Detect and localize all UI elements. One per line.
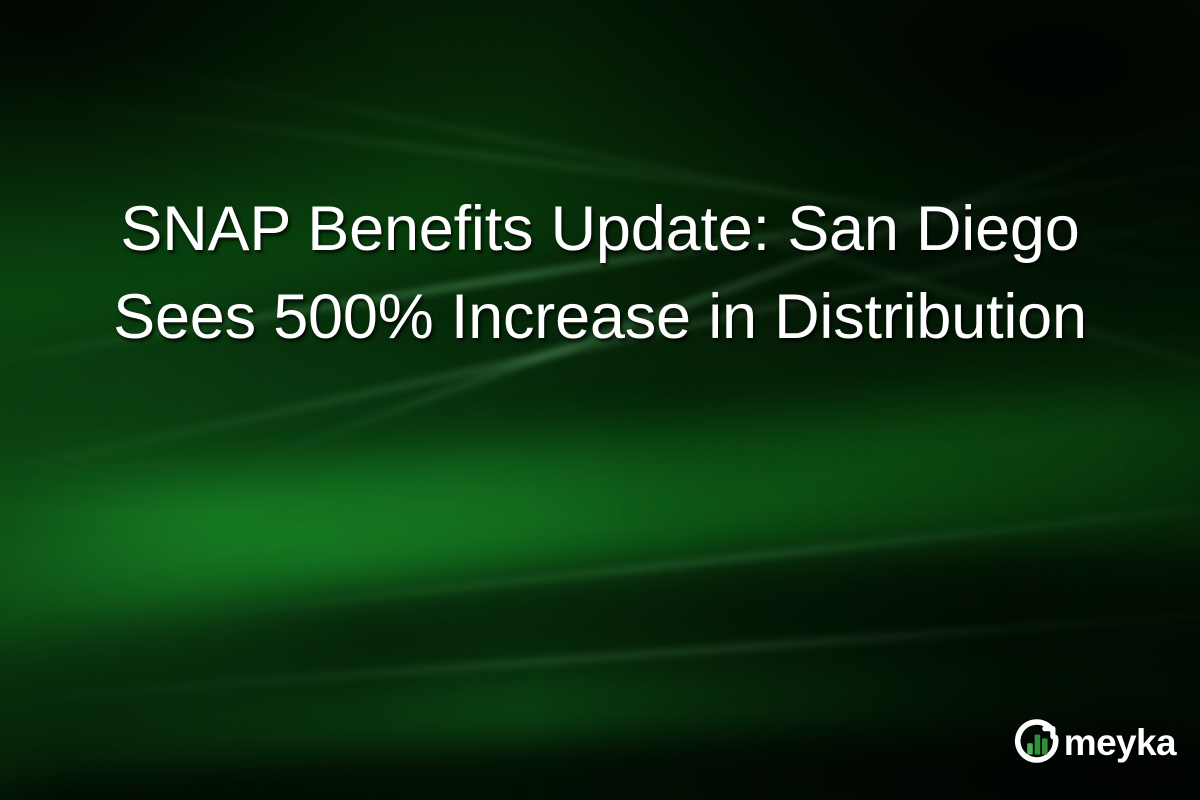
brand-logo: meyka	[1011, 716, 1176, 768]
social-share-card: SNAP Benefits Update: San Diego Sees 500…	[0, 0, 1200, 800]
background-vignette	[0, 0, 1200, 800]
brand-wordmark: meyka	[1064, 724, 1176, 761]
meyka-bar-chart-ring-icon	[1011, 716, 1063, 768]
page-title: SNAP Benefits Update: San Diego Sees 500…	[70, 185, 1130, 361]
